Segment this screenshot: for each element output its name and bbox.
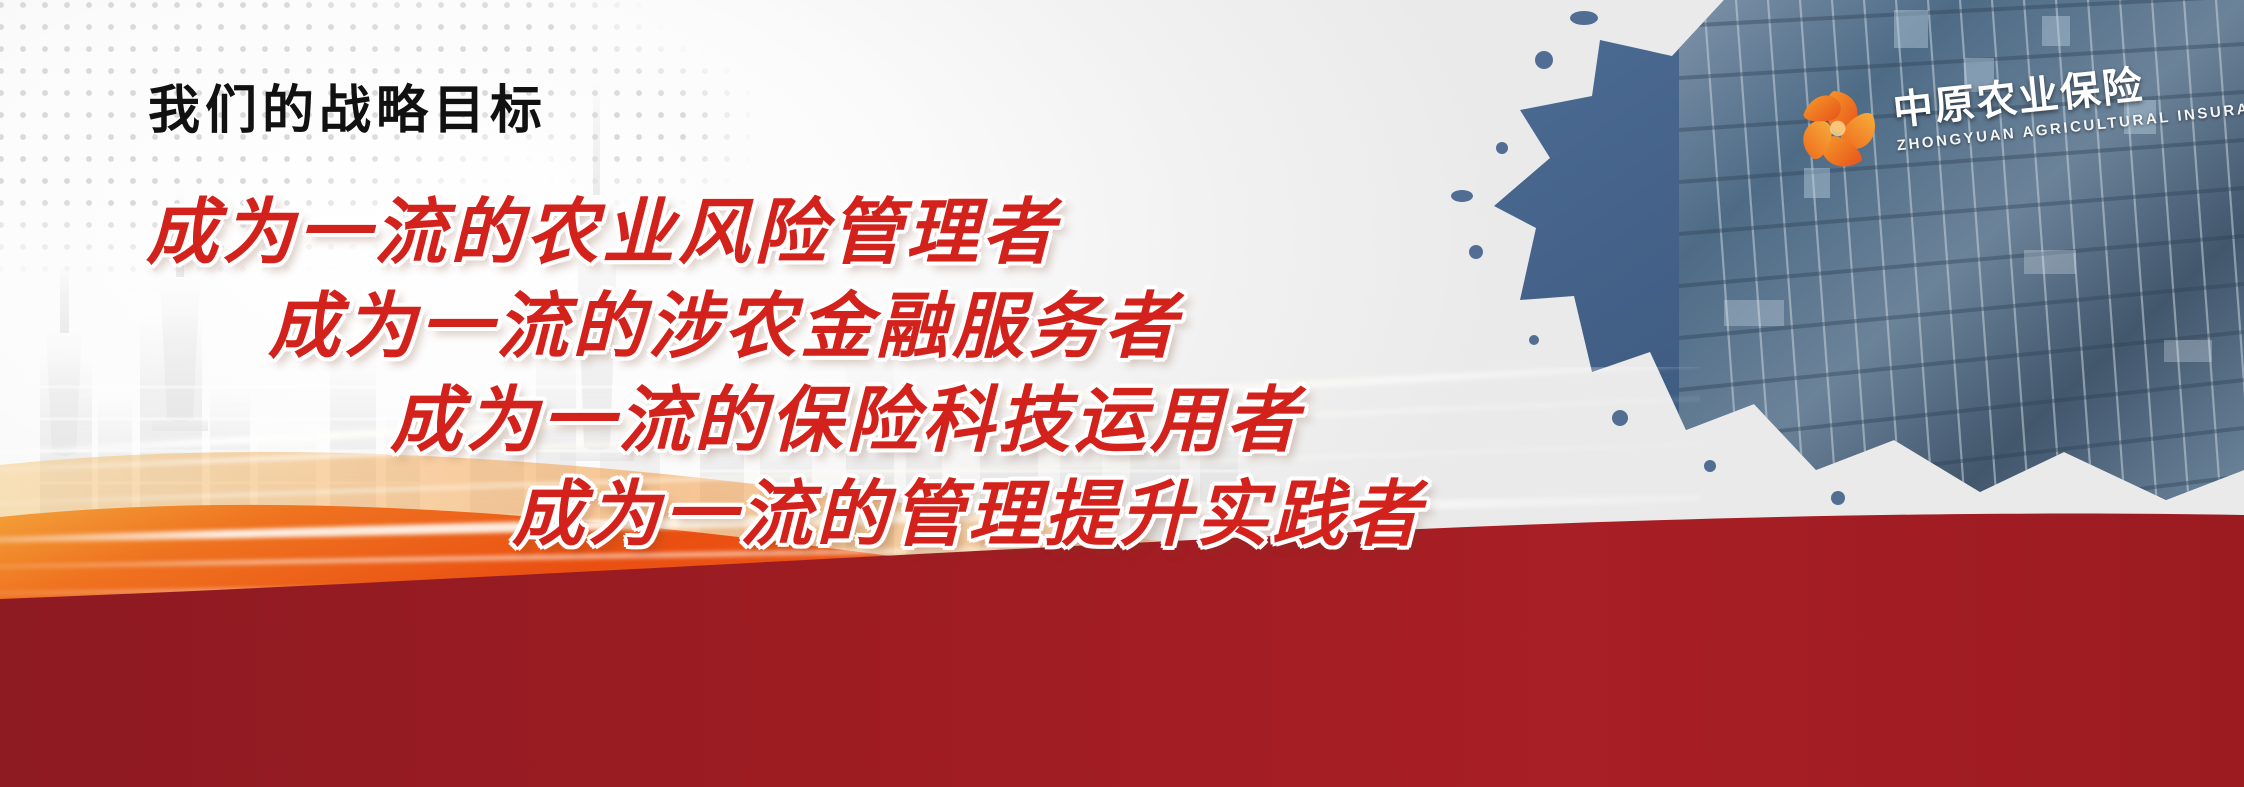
- slogan-line-1: 成为一流的农业风险管理者: [146, 185, 1560, 279]
- banner: 我们的战略目标 成为一流的农业风险管理者 成为一流的涉农金融服务者 成为一流的保…: [0, 0, 2244, 787]
- petal-flower-logo-icon: [1791, 81, 1886, 176]
- page-title: 我们的战略目标: [148, 68, 547, 143]
- slogan-line-3: 成为一流的保险科技运用者: [390, 373, 1560, 467]
- slogan-list: 成为一流的农业风险管理者 成为一流的涉农金融服务者 成为一流的保险科技运用者 成…: [0, 185, 1560, 561]
- slogan-line-2: 成为一流的涉农金融服务者: [268, 279, 1560, 373]
- slogan-line-4: 成为一流的管理提升实践者: [512, 467, 1560, 561]
